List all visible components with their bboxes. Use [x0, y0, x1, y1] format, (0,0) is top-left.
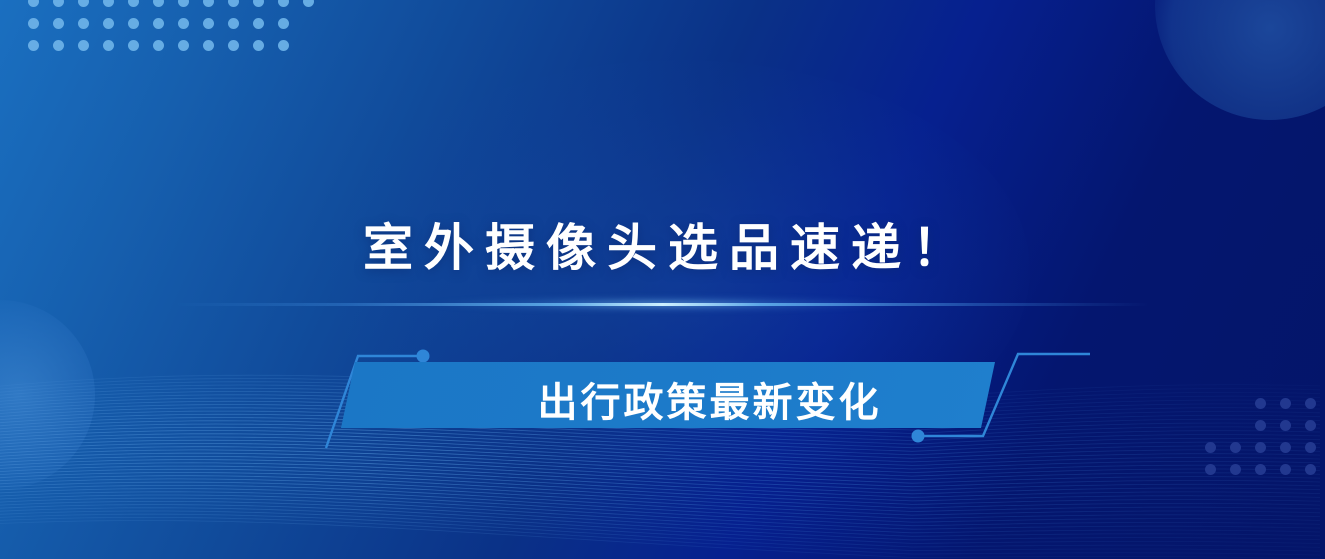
dot	[28, 40, 39, 51]
wave-line	[0, 517, 1320, 555]
dot	[278, 18, 289, 29]
circle-glow-icon-top-right	[1155, 0, 1325, 120]
dot-row	[1205, 398, 1325, 420]
dot-grid-icon-bottom-right	[1205, 398, 1325, 486]
dot	[53, 40, 64, 51]
dot	[1280, 442, 1291, 453]
dot	[1205, 442, 1216, 453]
dot-row	[1205, 464, 1325, 486]
dot	[1230, 464, 1241, 475]
dot	[253, 40, 264, 51]
dot	[153, 18, 164, 29]
dot	[28, 18, 39, 29]
dot	[153, 0, 164, 7]
dot	[228, 18, 239, 29]
dot	[203, 18, 214, 29]
dot-grid-icon-top-left	[28, 0, 328, 62]
dot	[1255, 420, 1266, 431]
dot	[178, 0, 189, 7]
dot	[1230, 442, 1241, 453]
dot	[1205, 464, 1216, 475]
wave-line	[0, 489, 1320, 522]
dot	[128, 40, 139, 51]
dot	[1255, 464, 1266, 475]
dot	[1280, 464, 1291, 475]
dot	[103, 40, 114, 51]
dot	[1305, 420, 1316, 431]
dot	[303, 0, 314, 7]
dot	[128, 18, 139, 29]
page-title: 室外摄像头选品速递！	[0, 208, 1325, 280]
glow-line-icon	[175, 303, 1150, 306]
dot-row	[1205, 442, 1325, 464]
dot	[1255, 398, 1266, 409]
dot	[278, 0, 289, 7]
dot	[1255, 442, 1266, 453]
dot	[103, 18, 114, 29]
dot	[1280, 398, 1291, 409]
dot	[178, 18, 189, 29]
dot	[53, 0, 64, 7]
dot	[178, 40, 189, 51]
dot	[53, 18, 64, 29]
dot	[253, 18, 264, 29]
dot-row	[28, 18, 328, 40]
dot	[1280, 420, 1291, 431]
dot	[78, 40, 89, 51]
bracket-dot-left	[417, 350, 430, 363]
dot-row	[1205, 420, 1325, 442]
dot	[153, 40, 164, 51]
dot	[28, 0, 39, 7]
dot	[103, 0, 114, 7]
dot	[278, 40, 289, 51]
dot	[78, 18, 89, 29]
subtitle-text: 出行政策最新变化	[318, 370, 1098, 428]
dot	[253, 0, 264, 7]
dot-row	[28, 0, 328, 18]
promo-banner: 室外摄像头选品速递！ 出行政策最新变化	[0, 0, 1325, 559]
subtitle-block: 出行政策最新变化	[318, 336, 1098, 454]
dot	[203, 0, 214, 7]
dot	[1305, 398, 1316, 409]
dot	[228, 40, 239, 51]
dot-row	[28, 40, 328, 62]
dot	[1305, 442, 1316, 453]
dot	[128, 0, 139, 7]
dot	[228, 0, 239, 7]
dot	[78, 0, 89, 7]
dot	[203, 40, 214, 51]
bracket-dot-right	[912, 430, 925, 443]
dot	[1305, 464, 1316, 475]
